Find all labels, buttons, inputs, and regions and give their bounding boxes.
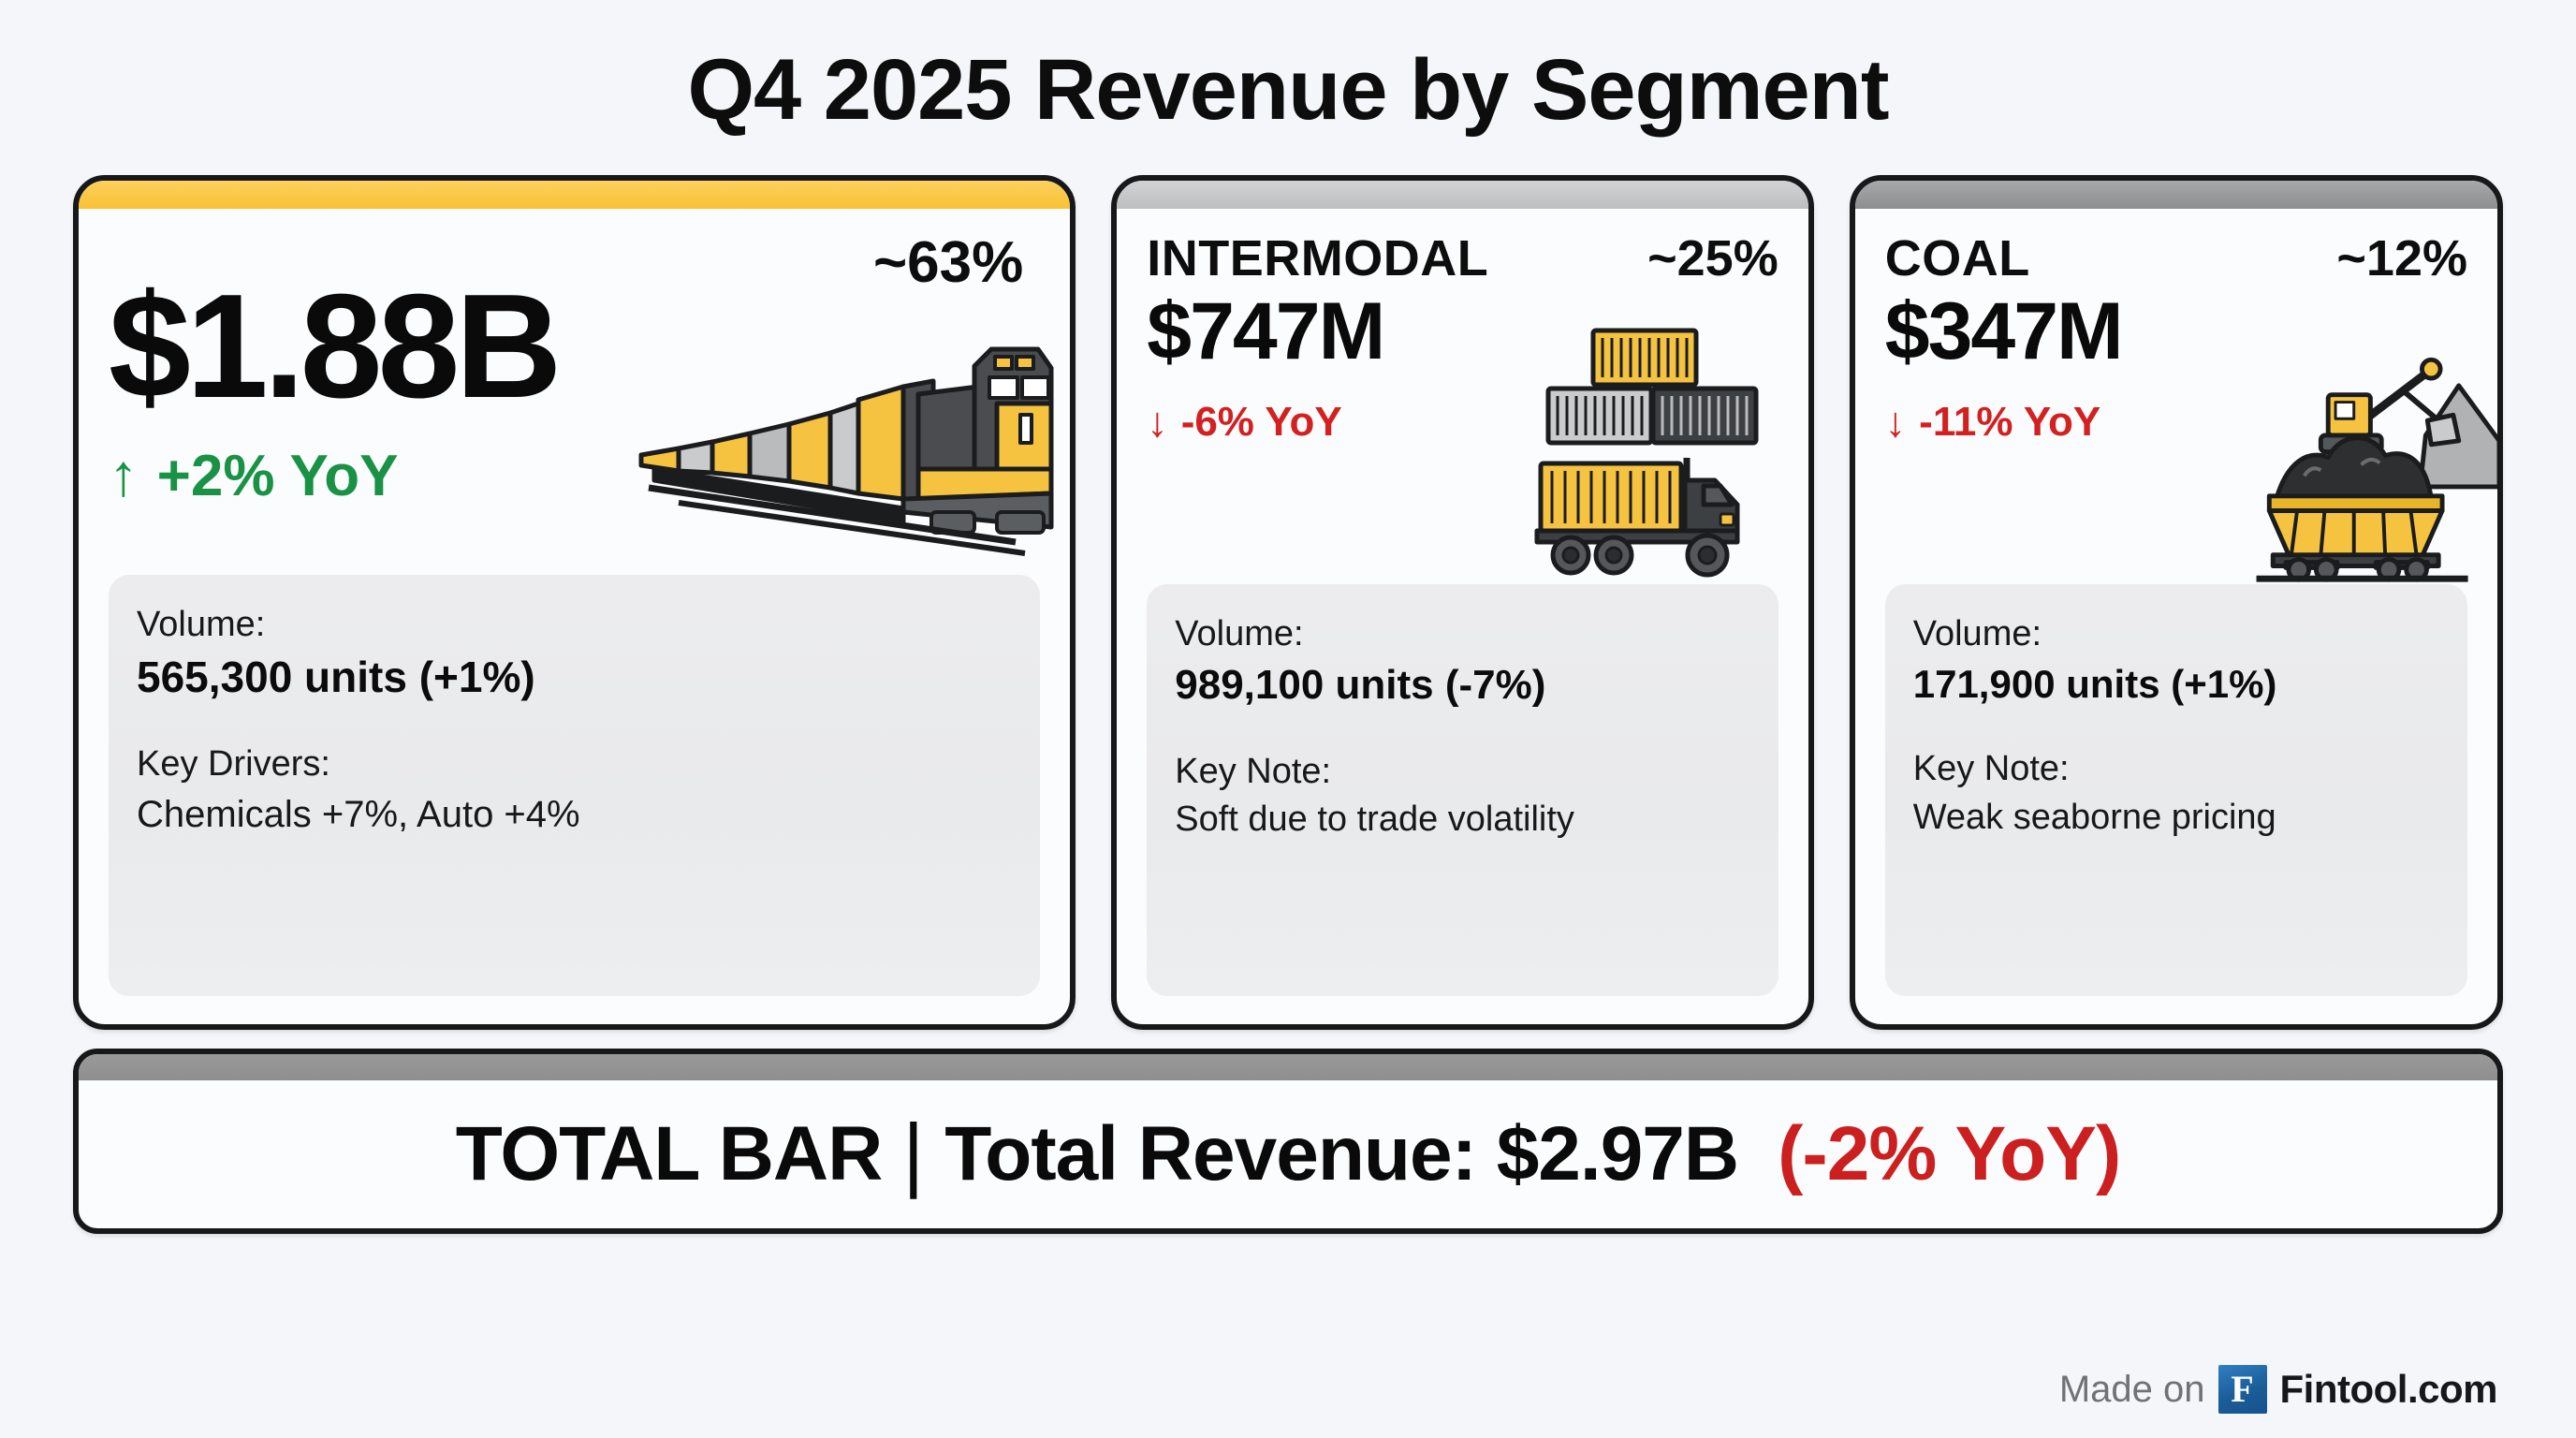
spacer — [137, 703, 1012, 742]
segment-card-intermodal[interactable]: INTERMODAL ~25% $747M ↓ -6% YoY — [1111, 175, 1813, 1030]
page-title: Q4 2025 Revenue by Segment — [0, 0, 2576, 136]
card-accent-bar — [1117, 181, 1808, 209]
fintool-brand-name: Fintool.com — [2280, 1367, 2497, 1412]
note-label: Key Note: — [1913, 747, 2439, 792]
note-label: Key Drivers: — [137, 742, 1012, 787]
arrow-down-icon: ↓ — [1147, 402, 1167, 444]
segment-name: COAL — [1885, 229, 2030, 287]
segment-share: ~25% — [1647, 229, 1778, 287]
volume-label: Volume: — [137, 603, 1012, 648]
spacer — [1175, 711, 1749, 750]
total-revenue-text: Total Revenue: $2.97B — [944, 1110, 1738, 1198]
note-value: Soft due to trade volatility — [1175, 798, 1749, 843]
segment-yoy: ↓ -11% YoY — [1885, 399, 2467, 446]
note-value: Weak seaborne pricing — [1913, 796, 2439, 841]
segment-share: ~12% — [2336, 229, 2467, 287]
segment-yoy: ↑ +2% YoY — [109, 443, 1040, 509]
card-body: COAL ~12% $347M ↓ -11% YoY — [1855, 209, 2497, 1024]
segment-name: INTERMODAL — [1147, 229, 1488, 287]
footer-attribution[interactable]: Made on F Fintool.com — [2059, 1365, 2497, 1414]
total-content: TOTAL BAR | Total Revenue: $2.97B (-2% Y… — [79, 1080, 2497, 1228]
total-yoy: (-2% YoY) — [1778, 1110, 2120, 1198]
volume-value: 989,100 units (-7%) — [1175, 660, 1749, 711]
segment-yoy-label: -11% YoY — [1919, 399, 2100, 446]
arrow-up-icon: ↑ — [109, 447, 139, 506]
card-body: INTERMODAL ~25% $747M ↓ -6% YoY — [1117, 209, 1808, 1024]
volume-value: 565,300 units (+1%) — [137, 651, 1012, 703]
card-body: ~63% $1.88B ↑ +2% YoY — [79, 209, 1070, 1024]
volume-label: Volume: — [1175, 612, 1749, 657]
spacer — [1913, 708, 2439, 747]
total-accent-bar — [79, 1054, 2497, 1080]
fintool-logo-icon: F — [2218, 1365, 2267, 1414]
total-bar-wrapper: TOTAL BAR | Total Revenue: $2.97B (-2% Y… — [0, 1030, 2576, 1234]
made-on-label: Made on — [2059, 1369, 2205, 1411]
total-bar-label: TOTAL BAR — [456, 1110, 883, 1198]
card-detail-box: Volume: 565,300 units (+1%) Key Drivers:… — [109, 575, 1040, 996]
volume-value: 171,900 units (+1%) — [1913, 660, 2439, 708]
total-separator: | — [902, 1116, 924, 1192]
segment-yoy: ↓ -6% YoY — [1147, 399, 1778, 446]
segment-revenue-value: $747M — [1147, 291, 1778, 374]
segment-cards-row: ~63% $1.88B ↑ +2% YoY — [0, 136, 2576, 1030]
card-detail-box: Volume: 171,900 units (+1%) Key Note: We… — [1885, 584, 2467, 996]
arrow-down-icon: ↓ — [1885, 402, 1906, 444]
segment-revenue-value: $347M — [1885, 291, 2467, 374]
card-accent-bar — [79, 181, 1070, 209]
segment-yoy-label: -6% YoY — [1181, 399, 1342, 446]
segment-card-merchandise[interactable]: ~63% $1.88B ↑ +2% YoY — [73, 175, 1076, 1030]
card-header: INTERMODAL ~25% — [1147, 229, 1778, 287]
note-label: Key Note: — [1175, 750, 1749, 795]
volume-label: Volume: — [1913, 612, 2439, 657]
card-header: COAL ~12% — [1885, 229, 2467, 287]
segment-yoy-label: +2% YoY — [157, 443, 399, 509]
card-accent-bar — [1855, 181, 2497, 209]
segment-revenue-value: $1.88B — [109, 271, 1040, 422]
note-value: Chemicals +7%, Auto +4% — [137, 791, 1012, 838]
card-detail-box: Volume: 989,100 units (-7%) Key Note: So… — [1147, 584, 1778, 996]
total-bar[interactable]: TOTAL BAR | Total Revenue: $2.97B (-2% Y… — [73, 1049, 2503, 1234]
segment-card-coal[interactable]: COAL ~12% $347M ↓ -11% YoY — [1850, 175, 2503, 1030]
